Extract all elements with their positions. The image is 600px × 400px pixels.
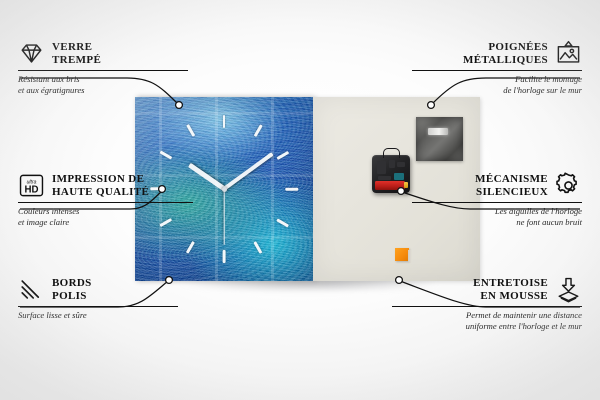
feature-head: BORDS POLIS (18, 276, 178, 303)
polished-edge-lines-icon (18, 276, 45, 303)
feature-head: ultra HD IMPRESSION DE HAUTE QUALITÉ (18, 172, 193, 199)
feature-mecanisme-silencieux: MÉCANISME SILENCIEUX Les aiguilles de l'… (412, 172, 582, 227)
feature-title-line2: MÉTALLIQUES (463, 54, 548, 67)
divider (18, 202, 193, 203)
clock-tick (253, 124, 262, 137)
feature-title-line2: HAUTE QUALITÉ (52, 186, 149, 199)
clock-tick (159, 151, 172, 160)
feature-verre-trempe: VERRE TREMPÉ Résistant aux bris et aux é… (18, 40, 188, 95)
divider (412, 70, 582, 71)
clock-minute-hand (223, 152, 274, 191)
feature-subtitle-line1: Permet de maintenir une distance (392, 310, 582, 320)
feature-head: MÉCANISME SILENCIEUX (412, 172, 582, 199)
feature-subtitle-line1: Surface lisse et sûre (18, 310, 178, 320)
hd-label: HD (25, 184, 39, 195)
feature-subtitle-line2: et aux égratignures (18, 85, 188, 95)
feature-poignees-metalliques: POIGNÉES MÉTALLIQUES Facilite le montage… (412, 40, 582, 95)
feature-title-line1: BORDS (52, 277, 92, 290)
feature-title-line1: POIGNÉES (463, 41, 548, 54)
feature-title-line1: VERRE (52, 41, 101, 54)
divider (18, 70, 188, 71)
hanging-frame-icon (555, 40, 582, 67)
clock-tick (186, 124, 195, 137)
feature-head: ENTRETOISE EN MOUSSE (392, 276, 582, 303)
clock-tick (223, 250, 226, 263)
infographic-canvas: VERRE TREMPÉ Résistant aux bris et aux é… (0, 0, 600, 400)
feature-head: VERRE TREMPÉ (18, 40, 188, 67)
divider (392, 306, 582, 307)
feature-title-line2: TREMPÉ (52, 54, 101, 67)
feature-title-line1: MÉCANISME (475, 173, 548, 186)
feature-subtitle-line2: ne font aucun bruit (412, 217, 582, 227)
feature-subtitle-line1: Résistant aux bris (18, 74, 188, 84)
feature-subtitle-line2: de l'horloge sur le mur (412, 85, 582, 95)
feature-impression-haute-qualite: ultra HD IMPRESSION DE HAUTE QUALITÉ Cou… (18, 172, 193, 227)
feature-title-line2: SILENCIEUX (475, 186, 548, 199)
clock-tick (285, 188, 298, 191)
arrow-on-layers-icon (555, 276, 582, 303)
feature-subtitle-line1: Facilite le montage (412, 74, 582, 84)
battery-icon (375, 181, 405, 190)
clock-hour-hand (188, 163, 226, 191)
clock-tick (186, 241, 195, 254)
foam-spacer-icon (395, 248, 409, 261)
quartz-movement-icon (372, 155, 410, 193)
hanger-loop-icon (383, 148, 400, 158)
metal-hanger-plate-icon (416, 117, 463, 161)
clock-second-hand (223, 189, 224, 245)
divider (412, 202, 582, 203)
feature-bords-polis: BORDS POLIS Surface lisse et sûre (18, 276, 178, 321)
clock-tick (276, 218, 289, 227)
divider (18, 306, 178, 307)
feature-entretoise-en-mousse: ENTRETOISE EN MOUSSE Permet de maintenir… (392, 276, 582, 331)
feature-title-line1: ENTRETOISE (473, 277, 548, 290)
feature-subtitle-line2: et image claire (18, 217, 193, 227)
ultra-hd-icon: ultra HD (18, 172, 45, 199)
clock-tick (223, 115, 226, 128)
feature-subtitle-line2: uniforme entre l'horloge et le mur (392, 321, 582, 331)
feature-title-line2: POLIS (52, 290, 92, 303)
feature-subtitle-line1: Couleurs intenses (18, 206, 193, 216)
diamond-icon (18, 40, 45, 67)
feature-title-line2: EN MOUSSE (473, 290, 548, 303)
clock-tick (253, 241, 262, 254)
clock-center-hub (222, 187, 227, 192)
gear-icon (555, 172, 582, 199)
clock-tick (276, 151, 289, 160)
feature-subtitle-line1: Les aiguilles de l'horloge (412, 206, 582, 216)
feature-title-line1: IMPRESSION DE (52, 173, 149, 186)
feature-head: POIGNÉES MÉTALLIQUES (412, 40, 582, 67)
